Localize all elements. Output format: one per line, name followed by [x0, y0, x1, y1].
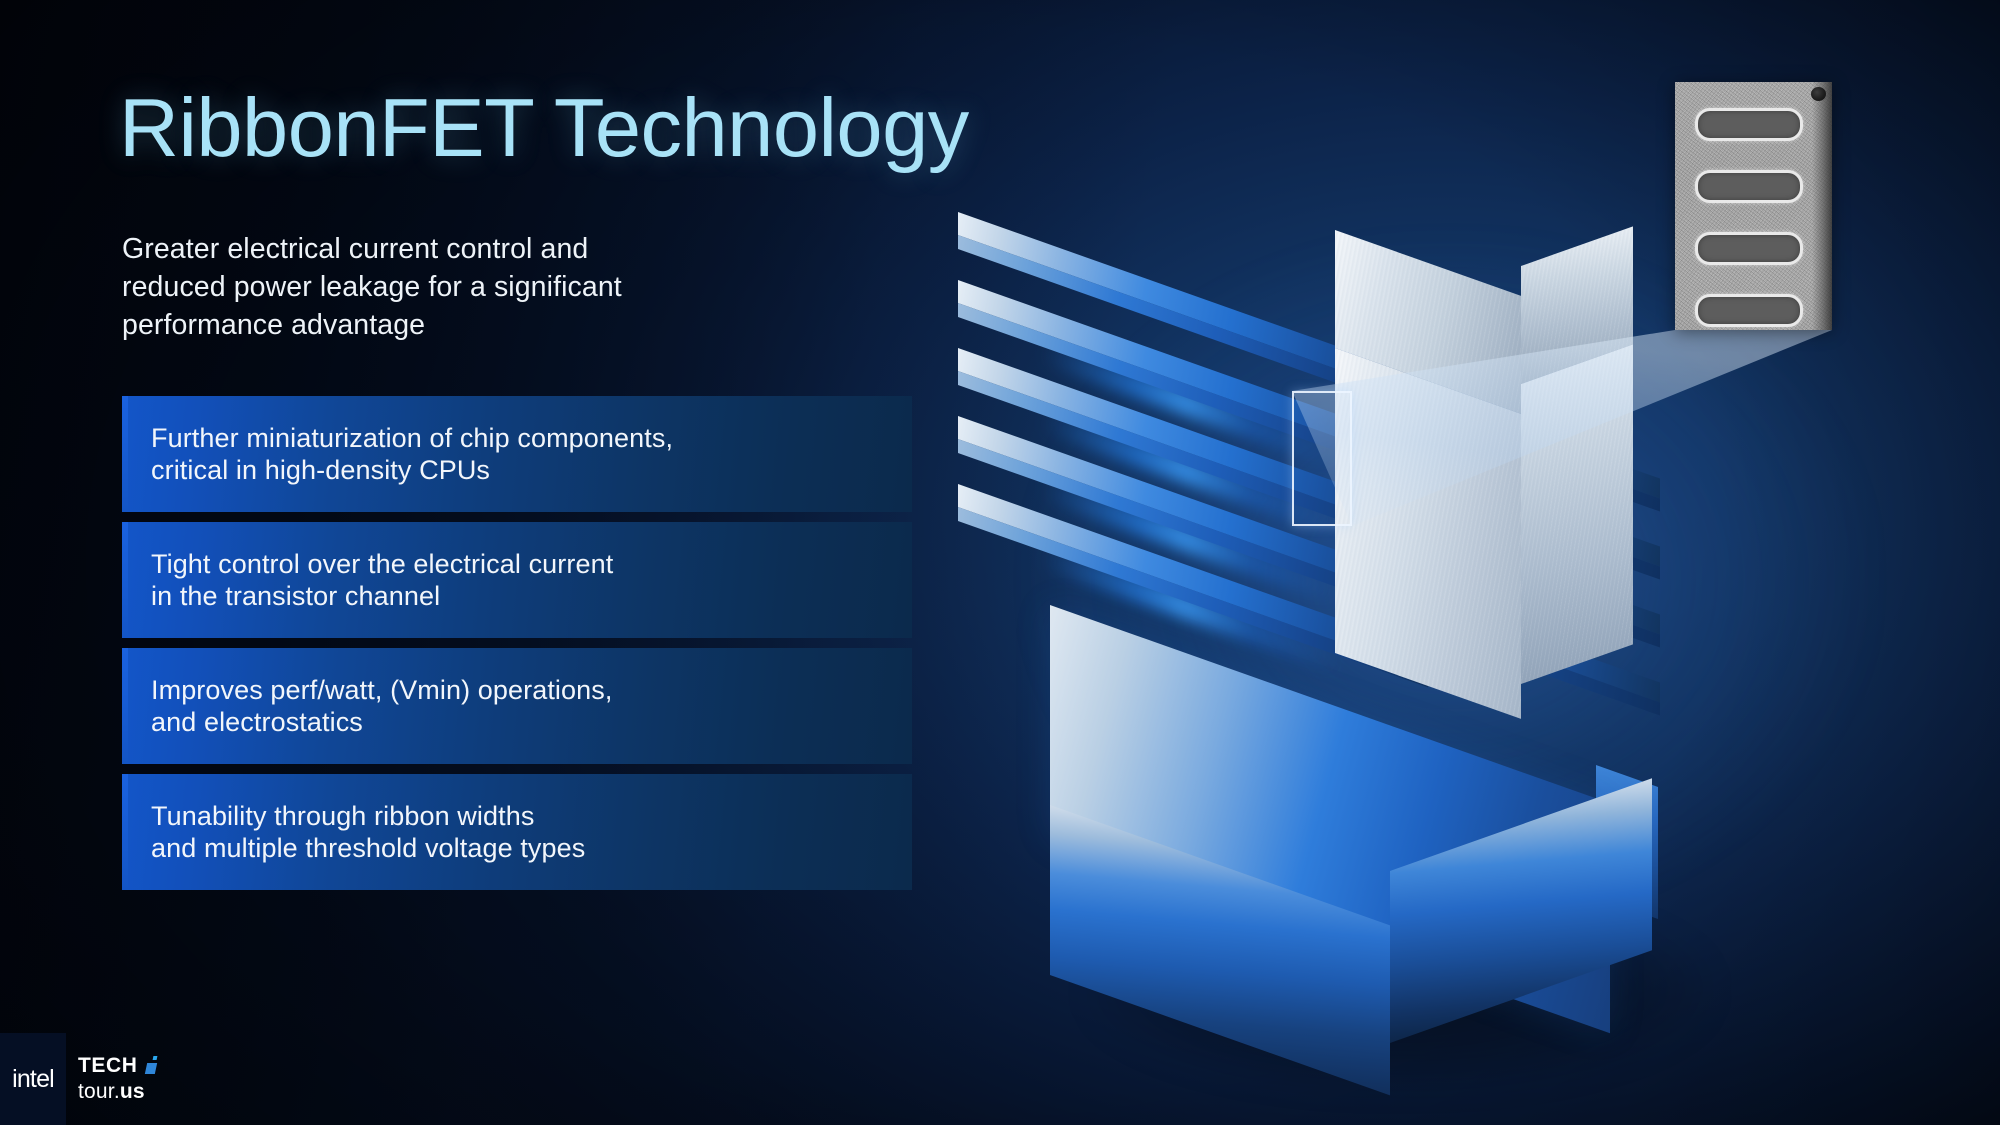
tem-ribbon-4: [1695, 294, 1803, 327]
pixel-large: [144, 1063, 156, 1074]
gate-grain-texture: [1521, 344, 1633, 684]
subtitle-line-3: performance advantage: [122, 307, 742, 345]
bullet-item-1[interactable]: Further miniaturization of chip componen…: [122, 396, 912, 512]
gate-front-face: [1335, 348, 1521, 719]
footer-logos: intel TECH tour.us: [0, 1033, 232, 1125]
bullet-item-4[interactable]: Tunability through ribbon widths and mul…: [122, 774, 912, 890]
bullet-4-line-2: and multiple threshold voltage types: [151, 832, 912, 864]
bullet-1-line-2: critical in high-density CPUs: [151, 454, 912, 486]
bullet-3-line-1: Improves perf/watt, (Vmin) operations,: [151, 674, 912, 706]
slide-root: RibbonFET Technology Greater electrical …: [0, 0, 2000, 1125]
page-title: RibbonFET Technology: [119, 86, 969, 169]
tem-dark-particle: [1811, 87, 1826, 101]
page-subtitle: Greater electrical current control and r…: [122, 231, 742, 345]
bullet-2-line-2: in the transistor channel: [151, 580, 912, 612]
bullet-1-line-1: Further miniaturization of chip componen…: [151, 422, 912, 454]
gate-metal-block: [1335, 230, 1635, 750]
tech-tour-top-row: TECH: [78, 1055, 160, 1076]
tech-tour-tech-word: TECH: [78, 1055, 138, 1076]
intel-wordmark: intel: [12, 1065, 54, 1094]
bullet-4-line-1: Tunability through ribbon widths: [151, 800, 912, 832]
cross-section-highlight-box: [1292, 391, 1352, 526]
tech-tour-logo: TECH tour.us: [78, 1055, 160, 1102]
gate-right-face: [1521, 344, 1633, 684]
tech-tour-bottom-row: tour.us: [78, 1081, 160, 1102]
bullet-item-2[interactable]: Tight control over the electrical curren…: [122, 522, 912, 638]
tem-ribbon-1: [1695, 108, 1803, 141]
tem-micrograph-inset: [1675, 82, 1832, 330]
tech-tour-us-word: us: [120, 1080, 145, 1103]
pixel-small: [152, 1056, 157, 1060]
tem-ribbon-3: [1695, 232, 1803, 265]
bullet-3-line-2: and electrostatics: [151, 706, 912, 738]
pixel-accent-icon: [144, 1055, 160, 1075]
subtitle-line-1: Greater electrical current control and: [122, 231, 742, 269]
bullet-list: Further miniaturization of chip componen…: [122, 396, 942, 900]
ribbonfet-diagram: [1030, 60, 2000, 1060]
intel-logo: intel: [0, 1033, 66, 1125]
subtitle-line-2: reduced power leakage for a significant: [122, 269, 742, 307]
bullet-2-line-1: Tight control over the electrical curren…: [151, 548, 912, 580]
bullet-item-3[interactable]: Improves perf/watt, (Vmin) operations, a…: [122, 648, 912, 764]
tem-ribbon-2: [1695, 170, 1803, 203]
tech-tour-tour-word: tour.: [78, 1080, 120, 1103]
gate-grain-texture: [1335, 348, 1521, 719]
tem-right-edge-shading: [1812, 82, 1832, 330]
